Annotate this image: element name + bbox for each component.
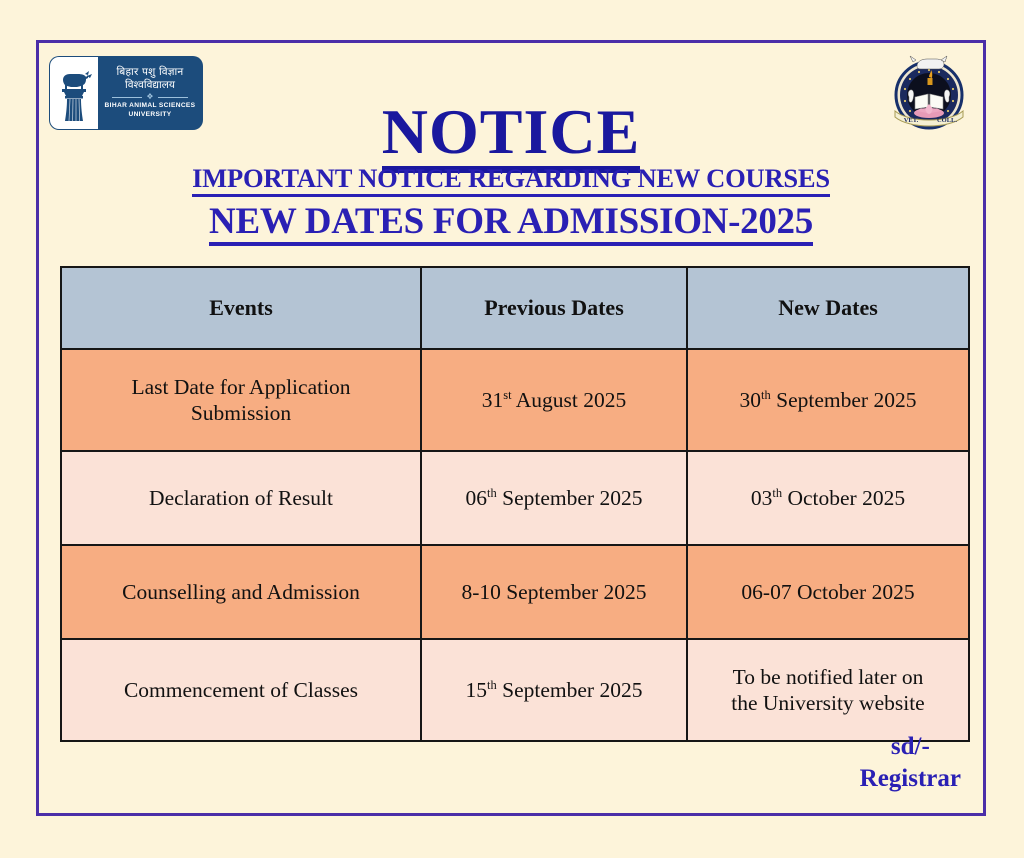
cell-event: Commencement of Classes (61, 639, 421, 741)
notice-subtitle: IMPORTANT NOTICE REGARDING NEW COURSES (39, 165, 983, 197)
new-date-line2: the University website (696, 690, 960, 716)
table-row: Counselling and Admission 8-10 September… (61, 545, 969, 639)
cell-new-date: 30th September 2025 (687, 349, 969, 451)
table-row: Commencement of Classes 15th September 2… (61, 639, 969, 741)
cell-event: Counselling and Admission (61, 545, 421, 639)
new-date-day: 06-07 October 2025 (741, 580, 914, 604)
previous-date-ordinal: st (503, 387, 511, 401)
previous-date-day: 06 (466, 486, 488, 510)
cell-new-date: To be notified later on the University w… (687, 639, 969, 741)
new-date-ordinal: th (772, 485, 782, 499)
cell-new-date: 06-07 October 2025 (687, 545, 969, 639)
previous-date-ordinal: th (487, 677, 497, 691)
new-date-rest: September 2025 (771, 388, 917, 412)
cell-previous-date: 8-10 September 2025 (421, 545, 687, 639)
signature-block: sd/- Registrar (860, 731, 961, 795)
signature-sd: sd/- (860, 731, 961, 763)
cell-previous-date: 06th September 2025 (421, 451, 687, 545)
previous-date-rest: August 2025 (512, 388, 627, 412)
cell-event-line1: Commencement of Classes (70, 677, 412, 703)
admission-dates-table: Events Previous Dates New Dates Last Dat… (60, 266, 970, 742)
new-date-line1: To be notified later on (696, 664, 960, 690)
previous-date-day: 8-10 September 2025 (461, 580, 646, 604)
notice-main-heading-text: NEW DATES FOR ADMISSION-2025 (209, 203, 813, 246)
cell-previous-date: 15th September 2025 (421, 639, 687, 741)
cell-event-line1: Declaration of Result (70, 485, 412, 511)
cell-previous-date: 31st August 2025 (421, 349, 687, 451)
new-date-rest: October 2025 (782, 486, 905, 510)
previous-date-rest: September 2025 (497, 486, 643, 510)
new-date-day: 30 (740, 388, 762, 412)
previous-date-day: 31 (482, 388, 504, 412)
table-row: Declaration of Result 06th September 202… (61, 451, 969, 545)
cell-event-line1: Last Date for Application (70, 374, 412, 400)
new-date-ordinal: th (761, 387, 771, 401)
university-name-hindi-line2: विश्वविद्यालय (125, 79, 175, 92)
signature-designation: Registrar (860, 763, 961, 795)
column-header-previous-dates: Previous Dates (421, 267, 687, 349)
table-header-row: Events Previous Dates New Dates (61, 267, 969, 349)
cell-event-line2: Submission (70, 400, 412, 426)
previous-date-ordinal: th (487, 485, 497, 499)
notice-border-frame: बिहार पशु विज्ञान विश्वविद्यालय ❖ BIHAR … (36, 40, 986, 816)
cell-event-line1: Counselling and Admission (70, 579, 412, 605)
notice-page: बिहार पशु विज्ञान विश्वविद्यालय ❖ BIHAR … (0, 0, 1024, 858)
new-date-day: 03 (751, 486, 773, 510)
column-header-new-dates: New Dates (687, 267, 969, 349)
university-name-hindi-line1: बिहार पशु विज्ञान (117, 66, 184, 79)
previous-date-rest: September 2025 (497, 678, 643, 702)
cell-event: Declaration of Result (61, 451, 421, 545)
notice-main-heading: NEW DATES FOR ADMISSION-2025 (39, 203, 983, 246)
previous-date-day: 15 (466, 678, 488, 702)
cell-event: Last Date for Application Submission (61, 349, 421, 451)
table-row: Last Date for Application Submission 31s… (61, 349, 969, 451)
cell-new-date: 03th October 2025 (687, 451, 969, 545)
column-header-events: Events (61, 267, 421, 349)
notice-header: बिहार पशु विज्ञान विश्वविद्यालय ❖ BIHAR … (39, 43, 983, 223)
notice-subtitle-text: IMPORTANT NOTICE REGARDING NEW COURSES (192, 165, 830, 197)
